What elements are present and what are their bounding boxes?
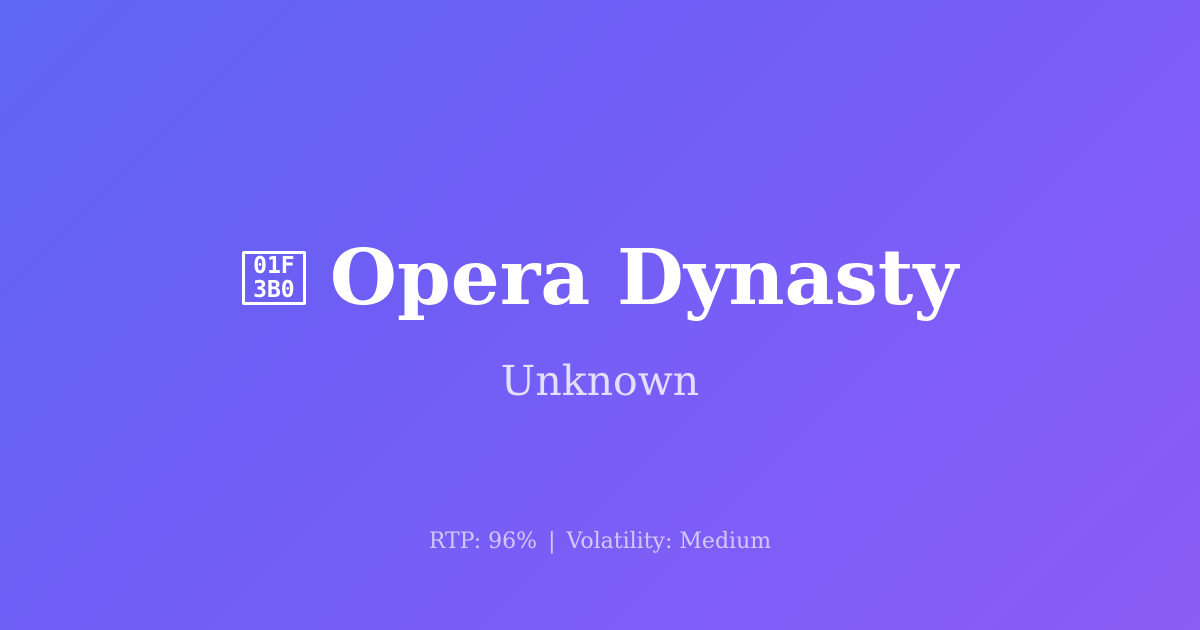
volatility-value: Medium (679, 529, 771, 554)
game-stats-line: RTP: 96% | Volatility: Medium (0, 528, 1200, 556)
rtp-label: RTP: (429, 529, 481, 554)
game-provider-subtitle: Unknown (501, 359, 699, 403)
stats-separator: | (544, 529, 559, 554)
volatility-label: Volatility: (567, 529, 673, 554)
tofu-codepoint-row-top: 01F (253, 254, 295, 278)
title-row: 01F 3B0 Opera Dynasty (242, 236, 958, 320)
og-preview-card: 01F 3B0 Opera Dynasty Unknown RTP: 96% |… (0, 0, 1200, 630)
tofu-codepoint-row-bottom: 3B0 (253, 278, 295, 302)
hero-block: 01F 3B0 Opera Dynasty Unknown (0, 236, 1200, 403)
game-title: Opera Dynasty (330, 236, 958, 320)
rtp-value: 96% (488, 529, 537, 554)
slot-machine-tofu-icon: 01F 3B0 (242, 251, 306, 305)
